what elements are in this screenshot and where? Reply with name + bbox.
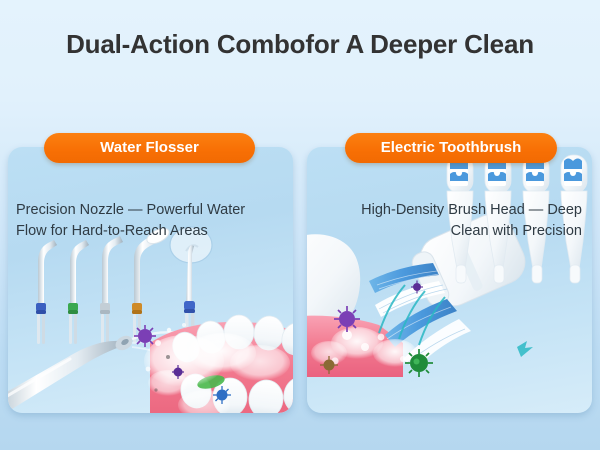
promo-banner: Dual-Action Combofor A Deeper Clean [0,0,600,450]
page-title: Dual-Action Combofor A Deeper Clean [0,28,600,62]
electric-toothbrush-illustration [307,147,592,413]
water-flosser-illustration [8,147,293,413]
card-text-water-flosser: Precision Nozzle — Powerful Water Flow f… [16,200,278,241]
card-water-flosser [8,147,293,413]
badge-electric-toothbrush[interactable]: Electric Toothbrush [345,133,557,163]
badge-water-flosser[interactable]: Water Flosser [44,133,255,163]
card-text-electric-toothbrush: High-Density Brush Head — Deep Clean wit… [320,200,582,241]
card-electric-toothbrush [307,147,592,413]
